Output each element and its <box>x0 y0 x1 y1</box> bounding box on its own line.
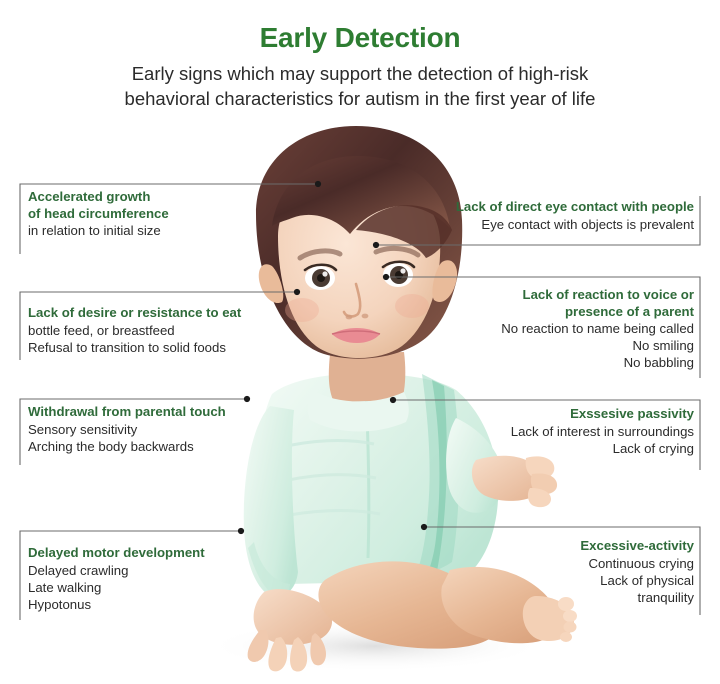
callout-detail-2: Arching the body backwards <box>28 438 268 455</box>
page-title: Early Detection <box>0 0 720 54</box>
callout-detail-1: Sensory sensitivity <box>28 421 268 438</box>
callout-title: Excessive-activity <box>464 538 694 555</box>
callout-title: Accelerated growth <box>28 189 258 206</box>
infographic-root: Early Detection Early signs which may su… <box>0 0 720 684</box>
page-subtitle: Early signs which may support the detect… <box>0 54 720 111</box>
callout-title-line2: presence of a parent <box>414 304 694 321</box>
callout-detail-3: Hypotonus <box>28 596 258 613</box>
callout-detail: Eye contact with objects is prevalent <box>404 216 694 233</box>
callout-detail-2: No smiling <box>414 337 694 354</box>
callout-head-circumference: Accelerated growth of head circumference… <box>28 189 258 239</box>
callout-detail-1: No reaction to name being called <box>414 320 694 337</box>
callout-title: Lack of desire or resistance to eat <box>28 305 278 322</box>
callout-title: Exssesive passivity <box>434 406 694 423</box>
callout-voice-reaction: Lack of reaction to voice or presence of… <box>414 287 694 371</box>
callout-title-line2: of head circumference <box>28 206 258 223</box>
callout-parental-touch: Withdrawal from parental touch Sensory s… <box>28 404 268 455</box>
callout-passivity: Exssesive passivity Lack of interest in … <box>434 406 694 457</box>
callout-title: Lack of direct eye contact with people <box>404 199 694 216</box>
callout-detail-1: bottle feed, or breastfeed <box>28 322 278 339</box>
callout-detail-2: Lack of physical <box>464 572 694 589</box>
callout-title: Delayed motor development <box>28 545 258 562</box>
callout-detail-1: Delayed crawling <box>28 562 258 579</box>
callout-detail-1: Lack of interest in surroundings <box>434 423 694 440</box>
callout-detail-1: Continuous crying <box>464 555 694 572</box>
callout-title: Lack of reaction to voice or <box>414 287 694 304</box>
callout-detail-2: Lack of crying <box>434 440 694 457</box>
subtitle-line-2: behavioral characteristics for autism in… <box>0 86 720 111</box>
callout-feeding: Lack of desire or resistance to eat bott… <box>28 305 278 356</box>
callout-eye-contact: Lack of direct eye contact with people E… <box>404 199 694 233</box>
callout-detail: in relation to initial size <box>28 222 258 239</box>
callout-title: Withdrawal from parental touch <box>28 404 268 421</box>
callout-detail-3: No babbling <box>414 354 694 371</box>
callout-detail-2: Late walking <box>28 579 258 596</box>
callout-motor-development: Delayed motor development Delayed crawli… <box>28 545 258 613</box>
callout-detail-3: tranquility <box>464 589 694 606</box>
subtitle-line-1: Early signs which may support the detect… <box>0 61 720 86</box>
header: Early Detection Early signs which may su… <box>0 0 720 111</box>
callout-detail-2: Refusal to transition to solid foods <box>28 339 278 356</box>
callout-excessive-activity: Excessive-activity Continuous crying Lac… <box>464 538 694 606</box>
